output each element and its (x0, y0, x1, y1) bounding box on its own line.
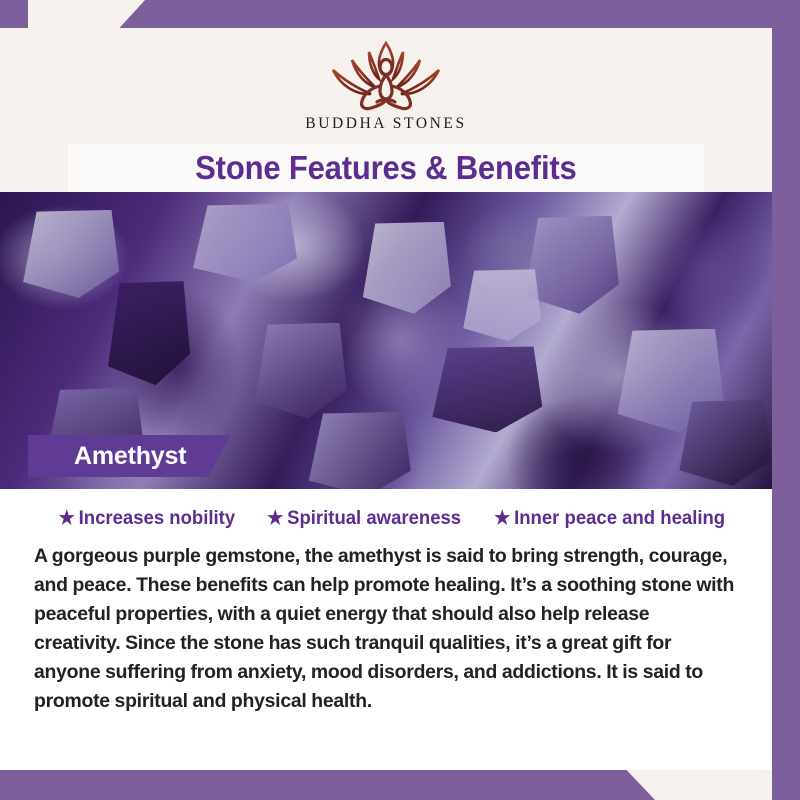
title-band: Stone Features & Benefits (68, 144, 704, 192)
stone-name-banner: Amethyst (28, 435, 230, 477)
stone-name: Amethyst (74, 442, 186, 471)
feature-list: ★ Increases nobility ★ Spiritual awarene… (34, 507, 738, 530)
crystal-facet (463, 269, 541, 341)
stone-description: A gorgeous purple gemstone, the amethyst… (34, 542, 738, 716)
feature-item-0: ★ Increases nobility (59, 507, 235, 530)
crystal-facet (679, 400, 771, 486)
brand-header: BUDDHA STONES (0, 28, 772, 141)
crystal-facet (108, 281, 190, 385)
infographic-card: BUDDHA STONES Stone Features & Benefits … (0, 28, 772, 770)
feature-label: Increases nobility (79, 507, 235, 530)
feature-item-2: ★ Inner peace and healing (494, 507, 725, 530)
crystal-facet (309, 412, 411, 489)
crystal-facet (193, 204, 297, 282)
crystal-facet (525, 216, 619, 314)
stone-photo: Amethyst (0, 192, 772, 489)
crystal-facet (255, 323, 347, 419)
feature-label: Inner peace and healing (514, 507, 725, 530)
star-icon: ★ (59, 509, 75, 528)
lotus-meditation-icon (311, 36, 461, 114)
feature-label: Spiritual awareness (287, 507, 461, 530)
frame-band-right (772, 0, 800, 800)
brand-name: BUDDHA STONES (305, 115, 466, 133)
feature-item-1: ★ Spiritual awareness (267, 507, 461, 530)
star-icon: ★ (494, 509, 510, 528)
crystal-facet (363, 222, 451, 314)
crystal-facet (432, 346, 542, 432)
crystal-facet (23, 210, 119, 298)
stone-content: ★ Increases nobility ★ Spiritual awarene… (0, 489, 772, 770)
page-title: Stone Features & Benefits (195, 149, 576, 187)
star-icon: ★ (267, 509, 283, 528)
